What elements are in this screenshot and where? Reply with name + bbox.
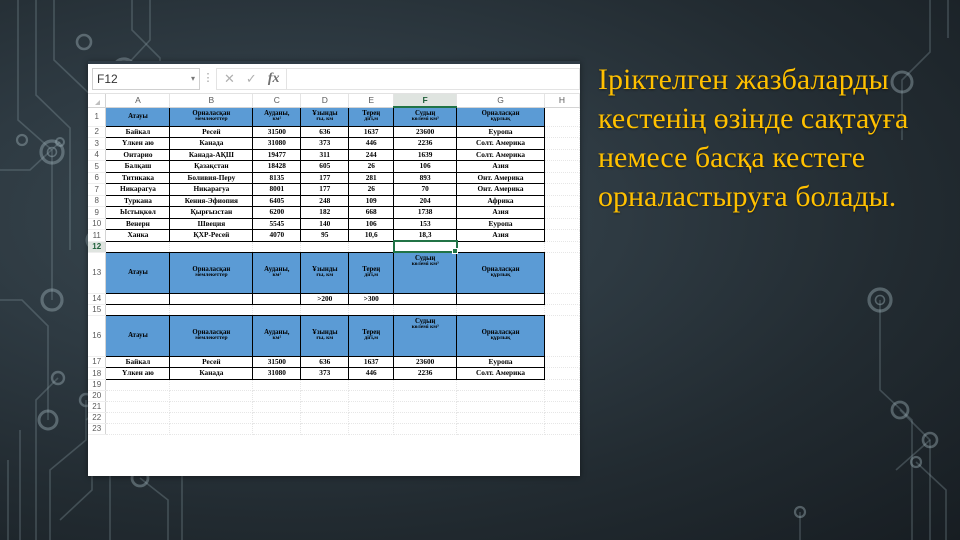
grid-cell-h15[interactable] [544, 304, 579, 315]
data-cell[interactable]: Туркана [106, 195, 170, 207]
grid-cell-b19[interactable] [170, 379, 253, 390]
grid-cell-d15[interactable] [301, 304, 349, 315]
grid-cell-e22[interactable] [349, 412, 394, 423]
data-cell[interactable]: 95 [301, 230, 349, 242]
grid-cell-a23[interactable] [106, 423, 170, 434]
data-cell[interactable]: 109 [349, 195, 394, 207]
column-header-h[interactable]: H [544, 94, 579, 107]
result-header-area: Ауданы,км² [253, 315, 301, 356]
data-cell[interactable]: Онт. Америка [457, 172, 545, 184]
criteria-cell[interactable] [457, 293, 545, 304]
grid-cell-a21[interactable] [106, 401, 170, 412]
table-row: 5 Балқаш Қазақстан 18428 605 26 106 Азия [88, 161, 580, 173]
insert-function-icon[interactable]: fx [268, 71, 280, 87]
data-cell[interactable]: Азия [457, 161, 545, 173]
header-cell-depth: Тереңдігі,м [349, 107, 394, 126]
row-header-15[interactable]: 15 [88, 304, 106, 315]
cancel-icon[interactable]: ✕ [224, 72, 235, 85]
grid-cell-a20[interactable] [106, 390, 170, 401]
criteria-cell-depth[interactable]: >300 [349, 293, 394, 304]
column-header-a[interactable]: A [106, 94, 170, 107]
grid-cell-h8[interactable] [544, 195, 579, 207]
data-cell[interactable]: 182 [301, 207, 349, 219]
result-cell[interactable]: 23600 [394, 356, 457, 368]
column-header-g[interactable]: G [457, 94, 545, 107]
grid-cell-b20[interactable] [170, 390, 253, 401]
data-cell[interactable]: Еуропа [457, 218, 545, 230]
data-cell[interactable]: 153 [394, 218, 457, 230]
grid-cell-h23[interactable] [544, 423, 579, 434]
selected-cell-f12[interactable] [394, 241, 457, 252]
grid-cell-g20[interactable] [457, 390, 545, 401]
table-row: 9 Ыстықкөл Қырғызстан 6200 182 668 1738 … [88, 207, 580, 219]
data-cell[interactable]: Азия [457, 207, 545, 219]
select-all-corner[interactable] [88, 94, 106, 107]
criteria-header-volume: Судыңкөлемі км³ [394, 252, 457, 293]
grid-cell-e15[interactable] [349, 304, 394, 315]
result-cell[interactable]: 373 [301, 368, 349, 380]
data-cell[interactable]: Титикака [106, 172, 170, 184]
grid-cell-f15[interactable] [394, 304, 457, 315]
result-cell[interactable]: Байкал [106, 356, 170, 368]
data-cell[interactable]: 1639 [394, 149, 457, 161]
data-cell[interactable]: Балқаш [106, 161, 170, 173]
data-cell[interactable]: 668 [349, 207, 394, 219]
grid-cell-a12[interactable] [106, 241, 170, 252]
result-cell[interactable]: Еуропа [457, 356, 545, 368]
chevron-down-icon[interactable]: ▾ [191, 74, 195, 83]
row-header-23[interactable]: 23 [88, 423, 106, 434]
grid-cell-g21[interactable] [457, 401, 545, 412]
grid-cell-f19[interactable] [394, 379, 457, 390]
name-box[interactable]: F12 ▾ [92, 68, 200, 90]
column-header-d[interactable]: D [301, 94, 349, 107]
table-row: 18 Үлкен аю Канада 31080 373 446 2236 Со… [88, 368, 580, 380]
table-row: 17 Байкал Ресей 31500 636 1637 23600 Еур… [88, 356, 580, 368]
grid-cell-e12[interactable] [349, 241, 394, 252]
table-row: 23 [88, 423, 580, 434]
grid-cell-f23[interactable] [394, 423, 457, 434]
grid-cell-b21[interactable] [170, 401, 253, 412]
table-row: 16 Атауы Орналасқанмемлекеттер Ауданы,км… [88, 315, 580, 356]
grid-cell-h5[interactable] [544, 161, 579, 173]
result-cell[interactable]: 31080 [253, 368, 301, 380]
data-cell[interactable]: 31500 [253, 126, 301, 138]
row-header-20[interactable]: 20 [88, 390, 106, 401]
grid-cell-h2[interactable] [544, 126, 579, 138]
result-header-depth: Тереңдігі,м [349, 315, 394, 356]
row-header-14[interactable]: 14 [88, 293, 106, 304]
grid-cell-d23[interactable] [301, 423, 349, 434]
data-cell[interactable]: Байкал [106, 126, 170, 138]
data-cell[interactable]: Никарагуа [106, 184, 170, 196]
grid-cell-h16[interactable] [544, 315, 579, 356]
more-options-icon[interactable]: ⋮ [200, 73, 216, 84]
row-header-13[interactable]: 13 [88, 252, 106, 293]
criteria-header-atauy: Атауы [106, 252, 170, 293]
grid-cell-d19[interactable] [301, 379, 349, 390]
grid-cell-b23[interactable] [170, 423, 253, 434]
data-cell[interactable]: 311 [301, 149, 349, 161]
column-header-row: A B C D E F G H [88, 94, 580, 107]
criteria-header-area: Ауданы,км² [253, 252, 301, 293]
data-cell[interactable]: Ресей [170, 126, 253, 138]
data-cell[interactable]: Үлкен аю [106, 138, 170, 150]
table-row: 21 [88, 401, 580, 412]
grid-cell-h10[interactable] [544, 218, 579, 230]
result-header-countries: Орналасқанмемлекеттер [170, 315, 253, 356]
grid-cell-h3[interactable] [544, 138, 579, 150]
data-cell[interactable]: 1637 [349, 126, 394, 138]
data-cell[interactable]: 19477 [253, 149, 301, 161]
result-cell[interactable]: 636 [301, 356, 349, 368]
row-header-22[interactable]: 22 [88, 412, 106, 423]
data-cell[interactable]: Қазақстан [170, 161, 253, 173]
table-row: 6 Титикака Боливия-Перу 8135 177 281 893… [88, 172, 580, 184]
header-cell-volume: Судыңкөлемі км³ [394, 107, 457, 126]
data-cell[interactable]: 26 [349, 184, 394, 196]
row-header-10[interactable]: 10 [88, 218, 106, 230]
data-cell[interactable]: 10,6 [349, 230, 394, 242]
row-header-21[interactable]: 21 [88, 401, 106, 412]
grid-cell-g23[interactable] [457, 423, 545, 434]
grid-cell-a15[interactable] [106, 304, 170, 315]
column-header-e[interactable]: E [349, 94, 394, 107]
criteria-header-depth: Тереңдігі,м [349, 252, 394, 293]
row-header-4[interactable]: 4 [88, 149, 106, 161]
criteria-cell-length[interactable]: >200 [301, 293, 349, 304]
grid-cell-h9[interactable] [544, 207, 579, 219]
row-header-5[interactable]: 5 [88, 161, 106, 173]
grid-cell-e21[interactable] [349, 401, 394, 412]
grid-cell-c23[interactable] [253, 423, 301, 434]
table-row: 20 [88, 390, 580, 401]
grid-cell-d20[interactable] [301, 390, 349, 401]
grid-cell-c20[interactable] [253, 390, 301, 401]
grid-cell-h13[interactable] [544, 252, 579, 293]
table-row: 13 Атауы Орналасқанмемлекеттер Ауданы,км… [88, 252, 580, 293]
row-header-17[interactable]: 17 [88, 356, 106, 368]
grid-cell-g15[interactable] [457, 304, 545, 315]
table-row: 4 Онтарио Канада-АҚШ 19477 311 244 1639 … [88, 149, 580, 161]
row-header-6[interactable]: 6 [88, 172, 106, 184]
data-cell[interactable]: 140 [301, 218, 349, 230]
grid-cell-g19[interactable] [457, 379, 545, 390]
data-cell[interactable]: Африка [457, 195, 545, 207]
table-row: 8 Туркана Кения-Эфиопия 6405 248 109 204… [88, 195, 580, 207]
data-cell[interactable]: 106 [394, 161, 457, 173]
data-cell[interactable]: Онтарио [106, 149, 170, 161]
criteria-header-length: Ұзындығы, км [301, 252, 349, 293]
grid-cell-a19[interactable] [106, 379, 170, 390]
result-cell[interactable]: 446 [349, 368, 394, 380]
data-cell[interactable]: Никарагуа [170, 184, 253, 196]
data-cell[interactable]: 446 [349, 138, 394, 150]
criteria-cell[interactable] [170, 293, 253, 304]
grid-cell-h4[interactable] [544, 149, 579, 161]
data-cell[interactable]: Солт. Америка [457, 149, 545, 161]
table-row: 14 >200 >300 [88, 293, 580, 304]
grid-cell-f22[interactable] [394, 412, 457, 423]
grid-cell-a22[interactable] [106, 412, 170, 423]
grid-cell-g22[interactable] [457, 412, 545, 423]
header-cell-atauy: Атауы [106, 107, 170, 126]
data-cell[interactable]: Канада-АҚШ [170, 149, 253, 161]
data-cell[interactable]: 18,3 [394, 230, 457, 242]
result-cell[interactable]: Үлкен аю [106, 368, 170, 380]
data-cell[interactable]: 248 [301, 195, 349, 207]
grid-cell-h19[interactable] [544, 379, 579, 390]
data-cell[interactable]: 23600 [394, 126, 457, 138]
grid-cell-h1[interactable] [544, 107, 579, 126]
data-cell[interactable]: 204 [394, 195, 457, 207]
grid-cell-c12[interactable] [253, 241, 301, 252]
grid-cell-h22[interactable] [544, 412, 579, 423]
result-cell[interactable]: Ресей [170, 356, 253, 368]
grid-cell-e19[interactable] [349, 379, 394, 390]
header-cell-countries: Орналасқанмемлекеттер [170, 107, 253, 126]
table-row: 1 Атауы Орналасқанмемлекеттер Ауданы,км²… [88, 107, 580, 126]
data-cell[interactable]: 373 [301, 138, 349, 150]
table-row: 3 Үлкен аю Канада 31080 373 446 2236 Сол… [88, 138, 580, 150]
data-cell[interactable]: 26 [349, 161, 394, 173]
data-cell[interactable]: 244 [349, 149, 394, 161]
grid-cell-g12[interactable] [457, 241, 545, 252]
formula-action-icons: ✕ ✓ fx [216, 68, 286, 90]
grid-cell-b15[interactable] [170, 304, 253, 315]
spreadsheet-grid: A B C D E F G H 1 Атауы Орналасқанмемлек… [88, 94, 580, 435]
criteria-cell[interactable] [253, 293, 301, 304]
grid-cell-d12[interactable] [301, 241, 349, 252]
row-header-16[interactable]: 16 [88, 315, 106, 356]
data-cell[interactable]: Солт. Америка [457, 138, 545, 150]
excel-window: F12 ▾ ⋮ ✕ ✓ fx A B [88, 61, 580, 476]
grid-cell-d22[interactable] [301, 412, 349, 423]
table-row: 10 Венерн Швеция 5545 140 106 153 Еуропа [88, 218, 580, 230]
row-header-8[interactable]: 8 [88, 195, 106, 207]
grid-cell-f21[interactable] [394, 401, 457, 412]
criteria-header-continent: Орналасқанқұрлық [457, 252, 545, 293]
slide-callout-text: Іріктелген жазбаларды кестенің өзінде са… [598, 60, 928, 216]
result-cell[interactable]: 1637 [349, 356, 394, 368]
grid-cell-d21[interactable] [301, 401, 349, 412]
data-cell[interactable]: 6200 [253, 207, 301, 219]
data-cell[interactable]: Онт. Америка [457, 184, 545, 196]
row-header-11[interactable]: 11 [88, 230, 106, 242]
result-header-length: Ұзындығы, км [301, 315, 349, 356]
table-row: 19 [88, 379, 580, 390]
grid-table: A B C D E F G H 1 Атауы Орналасқанмемлек… [88, 94, 580, 435]
grid-cell-c15[interactable] [253, 304, 301, 315]
data-cell[interactable]: Қырғызстан [170, 207, 253, 219]
grid-cell-c22[interactable] [253, 412, 301, 423]
row-header-9[interactable]: 9 [88, 207, 106, 219]
result-cell[interactable]: Солт. Америка [457, 368, 545, 380]
row-header-2[interactable]: 2 [88, 126, 106, 138]
row-header-12[interactable]: 12 [88, 241, 106, 252]
table-row: 12 [88, 241, 580, 252]
grid-cell-h17[interactable] [544, 356, 579, 368]
table-row: 2 Байкал Ресей 31500 636 1637 23600 Еуро… [88, 126, 580, 138]
criteria-cell[interactable] [394, 293, 457, 304]
data-cell[interactable]: 893 [394, 172, 457, 184]
data-cell[interactable]: 177 [301, 172, 349, 184]
grid-cell-h11[interactable] [544, 230, 579, 242]
grid-cell-h20[interactable] [544, 390, 579, 401]
formula-input[interactable] [286, 68, 580, 90]
data-cell[interactable]: 5545 [253, 218, 301, 230]
grid-cell-h21[interactable] [544, 401, 579, 412]
column-header-f[interactable]: F [394, 94, 457, 107]
header-cell-area: Ауданы,км² [253, 107, 301, 126]
confirm-icon[interactable]: ✓ [246, 72, 257, 85]
data-cell[interactable]: 4070 [253, 230, 301, 242]
grid-cell-e23[interactable] [349, 423, 394, 434]
data-cell[interactable]: Венерн [106, 218, 170, 230]
data-cell[interactable]: 106 [349, 218, 394, 230]
table-row: 7 Никарагуа Никарагуа 8001 177 26 70 Онт… [88, 184, 580, 196]
table-row: 15 [88, 304, 580, 315]
grid-cell-h7[interactable] [544, 184, 579, 196]
result-header-volume: Судыңкөлемі км³ [394, 315, 457, 356]
grid-cell-b12[interactable] [170, 241, 253, 252]
data-cell[interactable]: Еуропа [457, 126, 545, 138]
result-cell[interactable]: 31500 [253, 356, 301, 368]
header-cell-length: Ұзындығы, км [301, 107, 349, 126]
grid-cell-b22[interactable] [170, 412, 253, 423]
data-cell[interactable]: 605 [301, 161, 349, 173]
data-cell[interactable]: 2236 [394, 138, 457, 150]
data-cell[interactable]: Азия [457, 230, 545, 242]
criteria-header-countries: Орналасқанмемлекеттер [170, 252, 253, 293]
grid-cell-e20[interactable] [349, 390, 394, 401]
data-cell[interactable]: Ыстықкөл [106, 207, 170, 219]
name-box-value: F12 [97, 72, 191, 86]
data-cell[interactable]: 177 [301, 184, 349, 196]
result-header-atauy: Атауы [106, 315, 170, 356]
grid-cell-h14[interactable] [544, 293, 579, 304]
grid-cell-h18[interactable] [544, 368, 579, 380]
result-cell[interactable]: 2236 [394, 368, 457, 380]
grid-cell-h12[interactable] [544, 241, 579, 252]
data-cell[interactable]: Кения-Эфиопия [170, 195, 253, 207]
criteria-cell[interactable] [106, 293, 170, 304]
data-cell[interactable]: 8001 [253, 184, 301, 196]
data-cell[interactable]: 18428 [253, 161, 301, 173]
data-cell[interactable]: 636 [301, 126, 349, 138]
column-header-b[interactable]: B [170, 94, 253, 107]
grid-cell-h6[interactable] [544, 172, 579, 184]
row-header-19[interactable]: 19 [88, 379, 106, 390]
header-cell-continent: Орналасқанқұрлық [457, 107, 545, 126]
data-cell[interactable]: 6405 [253, 195, 301, 207]
data-cell[interactable]: Швеция [170, 218, 253, 230]
formula-bar-row: F12 ▾ ⋮ ✕ ✓ fx [88, 64, 580, 94]
data-cell[interactable]: Ханка [106, 230, 170, 242]
table-row: 11 Ханка ҚХР-Ресей 4070 95 10,6 18,3 Ази… [88, 230, 580, 242]
result-cell[interactable]: Канада [170, 368, 253, 380]
row-header-1[interactable]: 1 [88, 107, 106, 126]
data-cell[interactable]: 31080 [253, 138, 301, 150]
data-cell[interactable]: ҚХР-Ресей [170, 230, 253, 242]
row-header-3[interactable]: 3 [88, 138, 106, 150]
grid-cell-f20[interactable] [394, 390, 457, 401]
data-cell[interactable]: Боливия-Перу [170, 172, 253, 184]
data-cell[interactable]: 281 [349, 172, 394, 184]
row-header-18[interactable]: 18 [88, 368, 106, 380]
grid-cell-c21[interactable] [253, 401, 301, 412]
slide-canvas: F12 ▾ ⋮ ✕ ✓ fx A B [0, 0, 960, 540]
data-cell[interactable]: Канада [170, 138, 253, 150]
data-cell[interactable]: 8135 [253, 172, 301, 184]
row-header-7[interactable]: 7 [88, 184, 106, 196]
column-header-c[interactable]: C [253, 94, 301, 107]
data-cell[interactable]: 70 [394, 184, 457, 196]
data-cell[interactable]: 1738 [394, 207, 457, 219]
table-row: 22 [88, 412, 580, 423]
result-header-continent: Орналасқанқұрлық [457, 315, 545, 356]
grid-cell-c19[interactable] [253, 379, 301, 390]
